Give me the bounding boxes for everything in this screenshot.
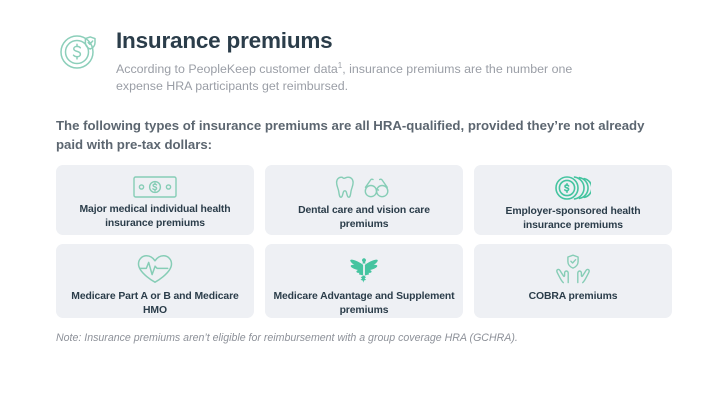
card-label: Major medical individual health insuranc…: [64, 203, 246, 230]
card-label: COBRA premiums: [529, 290, 618, 304]
hands-holding-shield-icon: [554, 253, 592, 285]
card-major-medical[interactable]: Major medical individual health insuranc…: [56, 165, 254, 235]
tooth-and-eyeglasses-icon: [335, 174, 393, 201]
insurance-premiums-infographic: Insurance premiums According to PeopleKe…: [0, 0, 720, 415]
card-medicare-part-ab[interactable]: Medicare Part A or B and Medicare HMO: [56, 244, 254, 318]
lead-paragraph: The following types of insurance premium…: [56, 116, 656, 154]
heart-heartbeat-icon: [136, 253, 174, 285]
banknote-dollar-icon: [133, 174, 177, 200]
dollar-coin-shield-icon: [56, 28, 102, 74]
header: Insurance premiums According to PeopleKe…: [56, 26, 672, 96]
card-cobra[interactable]: COBRA premiums: [474, 244, 672, 318]
subtitle-text-before: According to PeopleKeep customer data: [116, 62, 338, 76]
card-dental-vision[interactable]: Dental care and vision care premiums: [265, 165, 463, 235]
card-label: Medicare Advantage and Supplement premiu…: [273, 290, 455, 317]
page-subtitle: According to PeopleKeep customer data1, …: [116, 61, 586, 96]
card-label: Dental care and vision care premiums: [273, 204, 455, 231]
header-text-block: Insurance premiums According to PeopleKe…: [116, 26, 672, 96]
eagle-icon: [346, 253, 382, 285]
card-medicare-advantage[interactable]: Medicare Advantage and Supplement premiu…: [265, 244, 463, 318]
card-label: Employer-sponsored health insurance prem…: [482, 205, 664, 232]
footnote: Note: Insurance premiums aren’t eligible…: [56, 331, 672, 346]
card-label: Medicare Part A or B and Medicare HMO: [64, 290, 246, 317]
stacked-coins-icon: [555, 174, 591, 202]
card-employer-sponsored[interactable]: Employer-sponsored health insurance prem…: [474, 165, 672, 235]
premium-types-grid: Major medical individual health insuranc…: [56, 165, 672, 318]
page-title: Insurance premiums: [116, 28, 672, 54]
